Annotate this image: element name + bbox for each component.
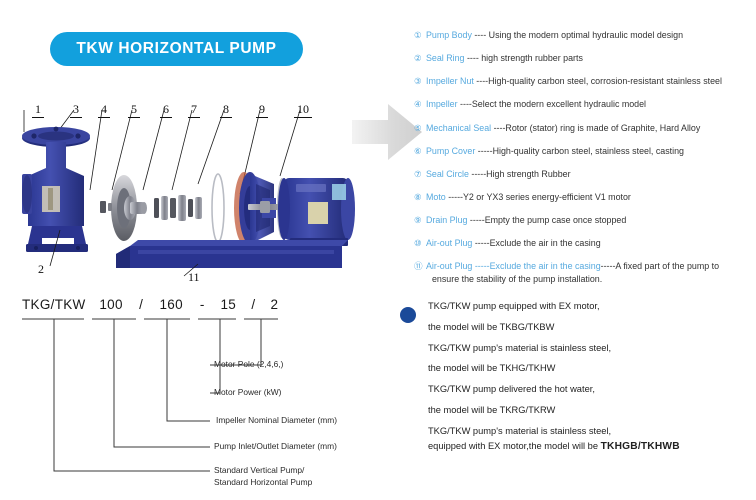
legend-number-1: ① — [414, 30, 426, 41]
model-leader-lines — [14, 297, 394, 493]
note-lines-group: TKG/TKW pump equipped with EX motor, the… — [428, 302, 756, 464]
legend-part-desc-3: High-quality carbon steel, corrosion-res… — [488, 76, 722, 86]
legend-item-2: ②Seal Ring ---- high strength rubber par… — [414, 53, 754, 64]
legend-part-name-11: Air-out Plug — [426, 261, 472, 271]
legend-part-desc-10: Exclude the air in the casing — [490, 238, 601, 248]
legend-part-name-2: Seal Ring — [426, 53, 464, 63]
part-seal-circle — [212, 174, 224, 242]
part-pump-body — [22, 127, 90, 252]
legend-number-2: ② — [414, 53, 426, 64]
note-line-4: the model will be TKHG/TKHW — [428, 364, 756, 373]
callout-3: 3 — [70, 103, 82, 118]
note-line-8: equipped with EX motor,the model will be… — [428, 442, 756, 452]
legend-dash-3: ---- — [474, 76, 488, 86]
parts-legend-list: ①Pump Body ---- Using the modern optimal… — [414, 30, 754, 298]
pump-spec-page: TKW HORIZONTAL PUMP — [0, 0, 756, 500]
callout-11: 11 — [188, 271, 200, 283]
legend-number-9: ⑨ — [414, 215, 426, 226]
callout-9: 9 — [256, 103, 268, 118]
legend-dash-11: ----- — [472, 261, 489, 271]
model-designation-diagram: TKG/TKW 100 / 160 - 15 / 2 — [14, 297, 394, 493]
legend-part-desc-5: Rotor (stator) ring is made of Graphite,… — [505, 123, 700, 133]
legend-part-name-1: Pump Body — [426, 30, 472, 40]
model-label-inlet-dia: Pump Inlet/Outlet Diameter (mm) — [214, 441, 337, 452]
legend-dash-6: ----- — [475, 146, 492, 156]
note-line-5: TKG/TKW pump delivered the hot water, — [428, 385, 756, 394]
legend-item-4: ④Impeller ----Select the modern excellen… — [414, 99, 754, 110]
legend-item-7: ⑦Seal Circle -----High strength Rubber — [414, 169, 754, 180]
legend-part-name-3: Impeller Nut — [426, 76, 474, 86]
note-line-2: the model will be TKBG/TKBW — [428, 323, 756, 332]
legend-part-name-6: Pump Cover — [426, 146, 475, 156]
callout-4: 4 — [98, 103, 110, 118]
note-line-8-prefix: equipped with EX motor,the model will be — [428, 441, 601, 451]
legend-dash-2: ---- — [464, 53, 481, 63]
legend-number-6: ⑥ — [414, 146, 426, 157]
model-label-standard-horizontal: Standard Horizontal Pump — [214, 477, 312, 488]
legend-number-4: ④ — [414, 99, 426, 110]
legend-item-8: ⑧Moto -----Y2 or YX3 series energy-effic… — [414, 192, 754, 203]
callout-8: 8 — [220, 103, 232, 118]
legend-part-name-9: Drain Plug — [426, 215, 467, 225]
legend-dash-8: ----- — [446, 192, 463, 202]
legend-dash-5: ---- — [491, 123, 505, 133]
callout-6: 6 — [160, 103, 172, 118]
legend-part-name-7: Seal Circle — [426, 169, 469, 179]
legend-item-1: ①Pump Body ---- Using the modern optimal… — [414, 30, 754, 41]
legend-dash-4: ---- — [458, 99, 472, 109]
note-line-3: TKG/TKW pump's material is stainless ste… — [428, 344, 756, 353]
legend-part-desc-blue-11: Exclude the air in the casing — [490, 261, 601, 271]
legend-item-5: ⑤Mechanical Seal ----Rotor (stator) ring… — [414, 123, 754, 134]
legend-dash-7: ----- — [469, 169, 486, 179]
note-line-6: the model will be TKRG/TKRW — [428, 406, 756, 415]
legend-dash2-11: ----- — [601, 261, 616, 271]
model-label-motor-power: Motor Power (kW) — [214, 387, 281, 398]
model-label-standard-vertical: Standard Vertical Pump/ — [214, 465, 304, 476]
legend-number-10: ⑩ — [414, 238, 426, 249]
exploded-pump-figure: 1 3 4 5 6 7 8 9 10 2 11 — [12, 98, 382, 288]
legend-item-6: ⑥Pump Cover -----High-quality carbon ste… — [414, 146, 754, 157]
legend-dash-9: ----- — [467, 215, 484, 225]
note-line-8-model: TKHGB/TKHWB — [601, 441, 680, 452]
legend-item-11: ⑪Air-out Plug -----Exclude the air in th… — [414, 261, 754, 285]
callout-10: 10 — [294, 103, 312, 118]
legend-part-desc-8: Y2 or YX3 series energy-efficient V1 mot… — [463, 192, 631, 202]
callout-2: 2 — [38, 263, 44, 275]
callout-5: 5 — [128, 103, 140, 118]
part-impeller-nut — [100, 201, 112, 213]
callout-7: 7 — [188, 103, 200, 118]
legend-part-desc-11-line2: ensure the stability of the pump install… — [414, 274, 754, 285]
legend-part-desc-4: Select the modern excellent hydraulic mo… — [472, 99, 646, 109]
legend-part-name-5: Mechanical Seal — [426, 123, 491, 133]
legend-part-desc-dark-11: A fixed part of the pump to — [615, 261, 719, 271]
legend-dash-10: ----- — [472, 238, 489, 248]
callout-1: 1 — [32, 103, 44, 118]
legend-number-3: ③ — [414, 76, 426, 87]
legend-item-3: ③Impeller Nut ----High-quality carbon st… — [414, 76, 754, 87]
legend-part-desc-1: Using the modern optimal hydraulic model… — [489, 30, 683, 40]
legend-dash-1: ---- — [472, 30, 489, 40]
legend-part-desc-2: high strength rubber parts — [481, 53, 583, 63]
part-mechanical-seal — [154, 195, 202, 221]
part-base-plate — [116, 240, 348, 268]
legend-part-desc-6: High-quality carbon steel, stainless ste… — [493, 146, 684, 156]
part-impeller — [111, 175, 147, 241]
legend-number-7: ⑦ — [414, 169, 426, 180]
model-label-motor-pole: Motor Pole (2,4,6,) — [214, 359, 283, 370]
pump-illustration-svg — [12, 98, 382, 288]
legend-part-name-8: Moto — [426, 192, 446, 202]
legend-item-10: ⑩Air-out Plug -----Exclude the air in th… — [414, 238, 754, 249]
page-title: TKW HORIZONTAL PUMP — [76, 40, 276, 58]
note-line-1: TKG/TKW pump equipped with EX motor, — [428, 302, 756, 311]
legend-number-11: ⑪ — [414, 261, 426, 272]
legend-part-desc-7: High strength Rubber — [486, 169, 570, 179]
model-label-impeller-dia: Impeller Nominal Diameter (mm) — [216, 415, 337, 426]
note-line-7: TKG/TKW pump's material is stainless ste… — [428, 427, 756, 436]
legend-part-desc-9: Empty the pump case once stopped — [485, 215, 627, 225]
legend-part-name-4: Impeller — [426, 99, 458, 109]
legend-number-8: ⑧ — [414, 192, 426, 203]
page-title-banner: TKW HORIZONTAL PUMP — [50, 32, 303, 66]
legend-part-name-10: Air-out Plug — [426, 238, 472, 248]
legend-number-5: ⑤ — [414, 123, 426, 134]
legend-item-9: ⑨Drain Plug -----Empty the pump case onc… — [414, 215, 754, 226]
bullet-point-icon — [400, 307, 416, 323]
